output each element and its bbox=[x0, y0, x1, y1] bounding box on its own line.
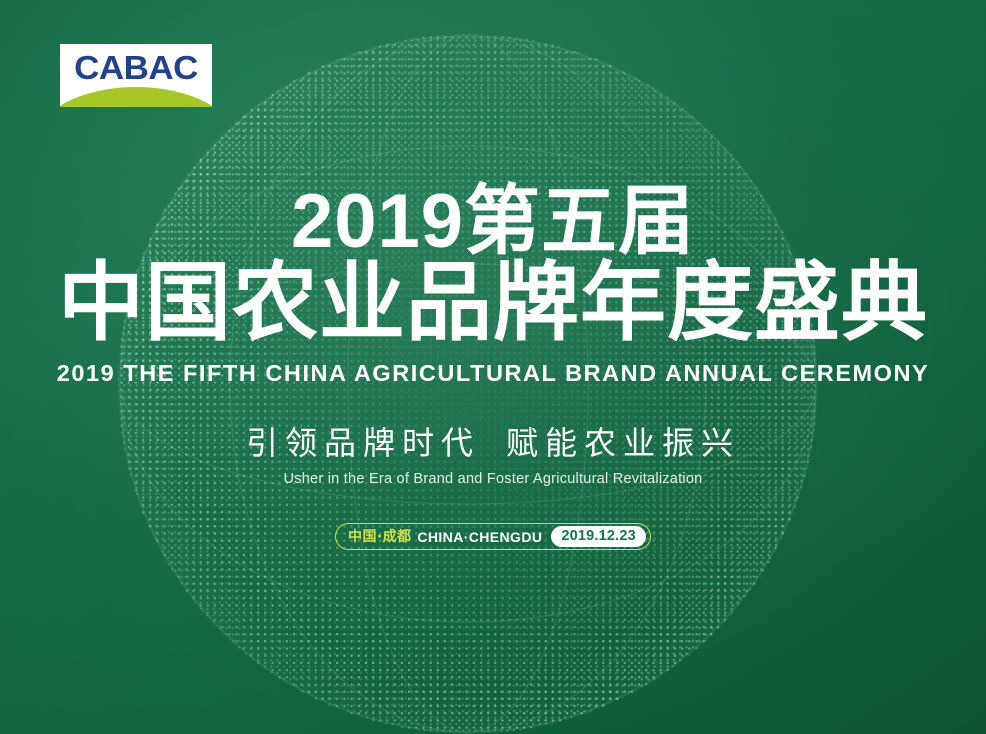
tagline-chinese-part1: 引领品牌时代 bbox=[246, 424, 480, 462]
cabac-logo: CABAC bbox=[60, 44, 212, 107]
title-year-line: 2019第五届 bbox=[0, 186, 986, 258]
event-badge-pill: 中国·成都 CHINA·CHENGDU 2019.12.23 bbox=[335, 523, 651, 550]
event-badge: 中国·成都 CHINA·CHENGDU 2019.12.23 bbox=[0, 523, 986, 550]
event-city-en: CHINA·CHENGDU bbox=[417, 530, 542, 544]
tagline-chinese: 引领品牌时代赋能农业振兴 bbox=[0, 424, 986, 462]
tagline-english: Usher in the Era of Brand and Foster Agr… bbox=[0, 471, 986, 487]
tagline-block: 引领品牌时代赋能农业振兴 Usher in the Era of Brand a… bbox=[0, 424, 986, 487]
event-city-cn: 中国·成都 bbox=[348, 530, 411, 544]
title-english-line: 2019 THE FIFTH CHINA AGRICULTURAL BRAND … bbox=[0, 360, 986, 387]
headline-block: 2019第五届 中国农业品牌年度盛典 2019 THE FIFTH CHINA … bbox=[0, 186, 986, 387]
title-main-line: 中国农业品牌年度盛典 bbox=[0, 260, 986, 348]
logo-hill-shape bbox=[60, 87, 212, 107]
tagline-chinese-part2: 赋能农业振兴 bbox=[506, 424, 740, 462]
event-poster: CABAC 2019第五届 中国农业品牌年度盛典 2019 THE FIFTH … bbox=[0, 0, 986, 734]
event-date: 2019.12.23 bbox=[551, 526, 646, 548]
logo-wordmark: CABAC bbox=[60, 51, 212, 84]
